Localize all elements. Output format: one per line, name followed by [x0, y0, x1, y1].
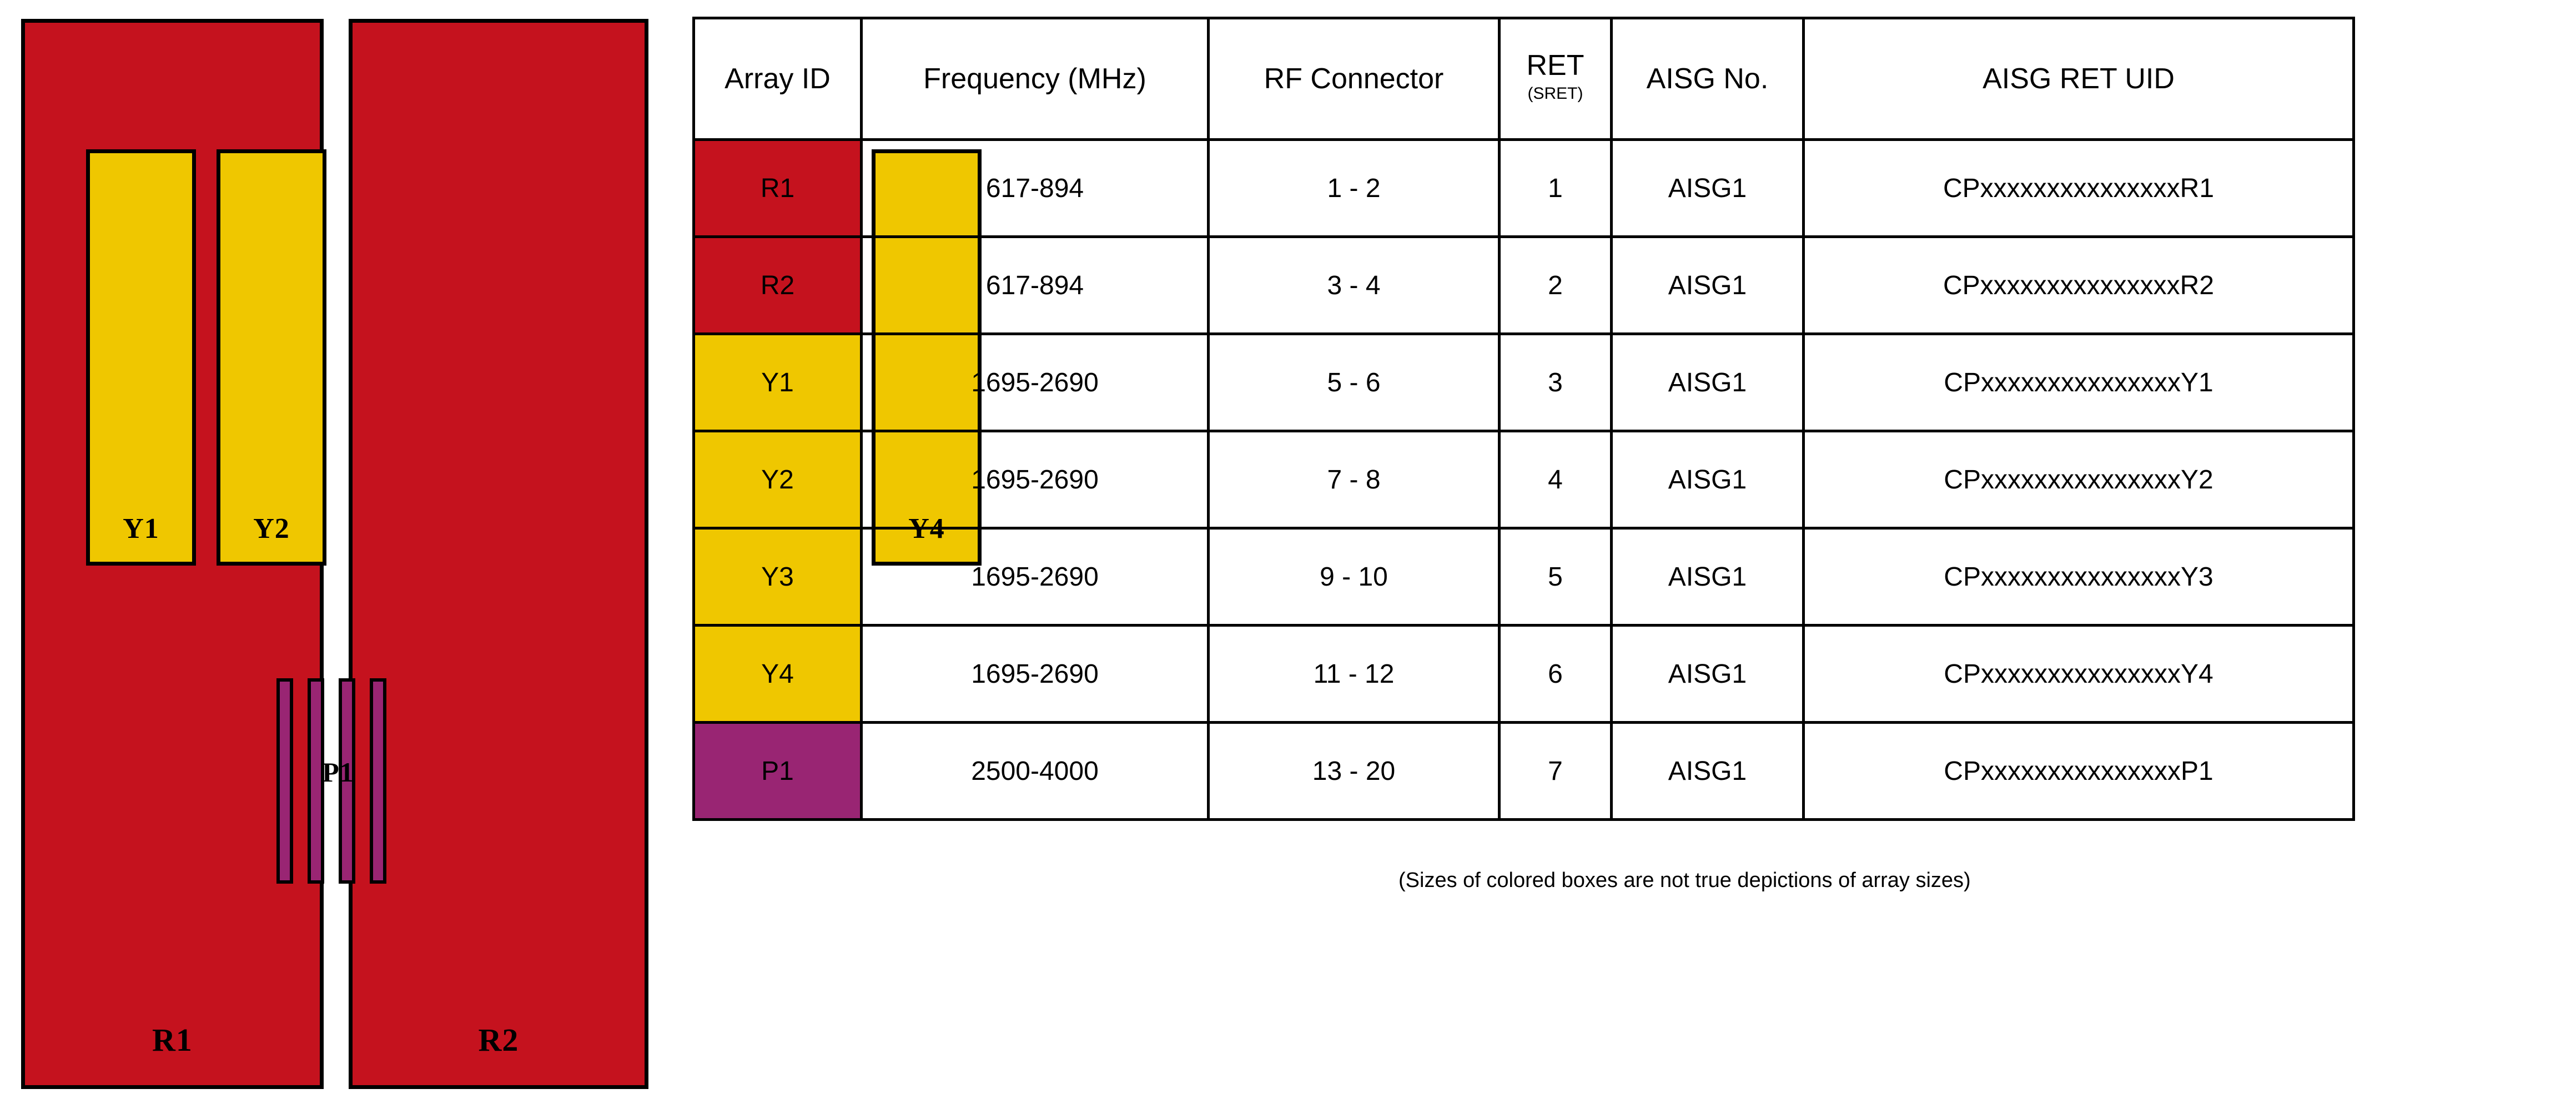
array-table-container: Array ID Frequency (MHz) RF Connector RE…: [692, 17, 2352, 821]
column-header-ret: RET (SRET): [1500, 18, 1612, 140]
cell-rf-connector: 13 - 20: [1209, 723, 1500, 820]
cell-aisg-ret-uid: CPxxxxxxxxxxxxxxxR1: [1804, 140, 2354, 237]
table-row: Y31695-26909 - 105AISG1CPxxxxxxxxxxxxxxx…: [694, 528, 2354, 626]
cell-rf-connector: 1 - 2: [1209, 140, 1500, 237]
table-row: Y41695-269011 - 126AISG1CPxxxxxxxxxxxxxx…: [694, 626, 2354, 723]
table-row: Y11695-26905 - 63AISG1CPxxxxxxxxxxxxxxxY…: [694, 334, 2354, 431]
cell-array-id: Y4: [694, 626, 862, 723]
column-header-ret-main: RET: [1501, 51, 1610, 81]
cell-rf-connector: 9 - 10: [1209, 528, 1500, 626]
cell-rf-connector: 7 - 8: [1209, 431, 1500, 528]
antenna-diagram: Y1 Y2 R1 Y3 Y4 R2 P1: [0, 0, 683, 1119]
cell-aisg-no: AISG1: [1612, 431, 1804, 528]
cell-frequency: 1695-2690: [862, 626, 1209, 723]
table-row: R1617-8941 - 21AISG1CPxxxxxxxxxxxxxxxR1: [694, 140, 2354, 237]
cell-array-id: P1: [694, 723, 862, 820]
cell-aisg-ret-uid: CPxxxxxxxxxxxxxxxY4: [1804, 626, 2354, 723]
cell-aisg-ret-uid: CPxxxxxxxxxxxxxxxY2: [1804, 431, 2354, 528]
cell-aisg-ret-uid: CPxxxxxxxxxxxxxxxY1: [1804, 334, 2354, 431]
cell-frequency: 2500-4000: [862, 723, 1209, 820]
cell-ret: 1: [1500, 140, 1612, 237]
cell-aisg-no: AISG1: [1612, 723, 1804, 820]
table-row: R2617-8943 - 42AISG1CPxxxxxxxxxxxxxxxR2: [694, 237, 2354, 334]
array-label-y1: Y1: [90, 512, 192, 545]
array-label-p1: P1: [276, 756, 400, 788]
table-footnote: (Sizes of colored boxes are not true dep…: [1398, 869, 1971, 893]
cell-aisg-no: AISG1: [1612, 334, 1804, 431]
column-header-aisg-no: AISG No.: [1612, 18, 1804, 140]
panel-label-r2: R2: [353, 1021, 645, 1058]
column-header-ret-sub: (SRET): [1501, 80, 1610, 107]
cell-aisg-ret-uid: CPxxxxxxxxxxxxxxxR2: [1804, 237, 2354, 334]
column-header-array-id: Array ID: [694, 18, 862, 140]
cell-aisg-ret-uid: CPxxxxxxxxxxxxxxxP1: [1804, 723, 2354, 820]
array-block-p1: P1: [276, 678, 400, 884]
cell-frequency: 617-894: [862, 140, 1209, 237]
cell-ret: 6: [1500, 626, 1612, 723]
cell-aisg-no: AISG1: [1612, 140, 1804, 237]
antenna-panel-r2: Y3 Y4 R2: [349, 19, 648, 1089]
cell-ret: 4: [1500, 431, 1612, 528]
table-header-row: Array ID Frequency (MHz) RF Connector RE…: [694, 18, 2354, 140]
array-label-y2: Y2: [220, 512, 323, 545]
array-configuration-table: Array ID Frequency (MHz) RF Connector RE…: [692, 17, 2355, 821]
cell-aisg-no: AISG1: [1612, 626, 1804, 723]
cell-frequency: 1695-2690: [862, 334, 1209, 431]
column-header-frequency: Frequency (MHz): [862, 18, 1209, 140]
array-block-y2: Y2: [217, 149, 326, 566]
cell-ret: 5: [1500, 528, 1612, 626]
cell-frequency: 617-894: [862, 237, 1209, 334]
array-block-y1: Y1: [86, 149, 196, 566]
cell-aisg-ret-uid: CPxxxxxxxxxxxxxxxY3: [1804, 528, 2354, 626]
cell-rf-connector: 3 - 4: [1209, 237, 1500, 334]
table-row: P12500-400013 - 207AISG1CPxxxxxxxxxxxxxx…: [694, 723, 2354, 820]
cell-rf-connector: 11 - 12: [1209, 626, 1500, 723]
table-row: Y21695-26907 - 84AISG1CPxxxxxxxxxxxxxxxY…: [694, 431, 2354, 528]
column-header-rf-connector: RF Connector: [1209, 18, 1500, 140]
cell-array-id: R2: [694, 237, 862, 334]
cell-ret: 7: [1500, 723, 1612, 820]
antenna-panel-r1: Y1 Y2 R1: [21, 19, 324, 1089]
cell-ret: 2: [1500, 237, 1612, 334]
cell-array-id: Y1: [694, 334, 862, 431]
column-header-aisg-ret-uid: AISG RET UID: [1804, 18, 2354, 140]
panel-label-r1: R1: [25, 1021, 320, 1058]
cell-aisg-no: AISG1: [1612, 237, 1804, 334]
cell-frequency: 1695-2690: [862, 528, 1209, 626]
cell-frequency: 1695-2690: [862, 431, 1209, 528]
cell-array-id: R1: [694, 140, 862, 237]
cell-rf-connector: 5 - 6: [1209, 334, 1500, 431]
cell-aisg-no: AISG1: [1612, 528, 1804, 626]
cell-ret: 3: [1500, 334, 1612, 431]
cell-array-id: Y2: [694, 431, 862, 528]
cell-array-id: Y3: [694, 528, 862, 626]
